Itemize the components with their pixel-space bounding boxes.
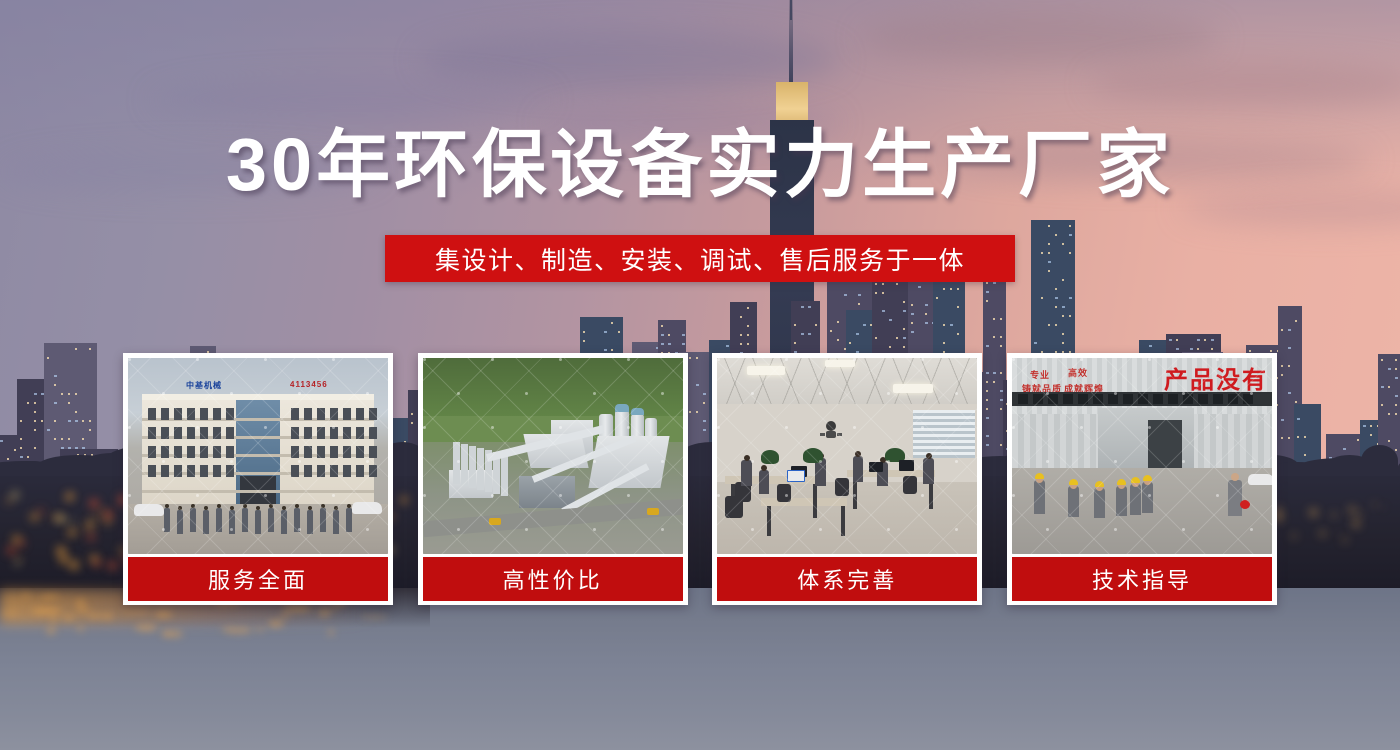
water-light-reflection bbox=[319, 612, 330, 616]
building-sign-text: 中基机械 bbox=[186, 380, 222, 391]
office-chair bbox=[835, 478, 849, 496]
building-window bbox=[369, 465, 377, 477]
company-headquarters-building-photo: 中基机械 4113456 bbox=[128, 358, 388, 554]
shore-light bbox=[60, 556, 67, 563]
building-window bbox=[330, 408, 338, 420]
shore-light bbox=[92, 516, 96, 520]
factory-worker bbox=[1094, 488, 1105, 518]
shore-light bbox=[109, 562, 116, 569]
factory-window bbox=[1138, 394, 1148, 404]
feature-card[interactable]: 中基机械 4113456 服务全面 bbox=[123, 353, 393, 605]
watermark-node bbox=[525, 460, 528, 463]
factory-sign-large-text: 产品没有 bbox=[1164, 360, 1268, 395]
watermark-node bbox=[128, 426, 131, 429]
parked-car bbox=[1248, 474, 1272, 485]
potted-plant bbox=[803, 448, 823, 463]
shore-light bbox=[39, 509, 44, 514]
factory-window bbox=[1228, 394, 1238, 404]
potted-plant bbox=[761, 450, 779, 464]
factory-worker bbox=[1068, 486, 1079, 517]
desk-leg bbox=[767, 506, 771, 536]
red-helmet-icon bbox=[1240, 500, 1250, 509]
staff-person bbox=[281, 510, 287, 534]
cloud bbox=[150, 78, 550, 122]
building-window bbox=[304, 427, 312, 439]
office-chair bbox=[903, 476, 917, 494]
staff-person bbox=[203, 510, 209, 534]
factory-window bbox=[1123, 394, 1133, 404]
feature-card-label-text: 服务全面 bbox=[208, 563, 308, 595]
stack-tower bbox=[477, 448, 484, 490]
building-window bbox=[200, 427, 208, 439]
building-window bbox=[369, 446, 377, 458]
building-window bbox=[213, 427, 221, 439]
building-window bbox=[174, 427, 182, 439]
building-window bbox=[343, 465, 351, 477]
feature-card-label: 体系完善 bbox=[717, 557, 977, 601]
building-phone-text: 4113456 bbox=[290, 380, 328, 389]
shore-light bbox=[1336, 532, 1338, 534]
office-worker bbox=[759, 470, 769, 494]
shore-light bbox=[1332, 513, 1336, 517]
building-window bbox=[369, 427, 377, 439]
building-window bbox=[200, 446, 208, 458]
shore-light bbox=[57, 547, 65, 555]
building-window bbox=[304, 446, 312, 458]
shore-light bbox=[70, 520, 73, 523]
cloud bbox=[1090, 62, 1400, 108]
feature-card-label: 高性价比 bbox=[423, 557, 683, 601]
shore-light bbox=[91, 555, 98, 562]
ceiling-light bbox=[825, 360, 855, 367]
tower-antenna bbox=[789, 0, 793, 85]
staff-person bbox=[229, 510, 235, 534]
silo-cap bbox=[631, 408, 644, 415]
office-worker bbox=[741, 460, 752, 486]
shore-light bbox=[7, 499, 11, 503]
shore-light bbox=[1382, 506, 1384, 508]
building-window bbox=[317, 446, 325, 458]
watermark-node bbox=[332, 358, 335, 361]
safety-helmet-icon bbox=[1069, 479, 1078, 485]
staff-person bbox=[294, 508, 300, 532]
shore-light bbox=[1343, 538, 1347, 542]
building-window bbox=[148, 408, 156, 420]
feature-card-list: 中基机械 4113456 服务全面 高性价比 bbox=[123, 353, 1277, 605]
building-window bbox=[291, 465, 299, 477]
factory-window bbox=[1183, 394, 1193, 404]
supervisor-head bbox=[1231, 473, 1239, 481]
parked-car bbox=[134, 504, 164, 516]
office-worker bbox=[853, 456, 863, 482]
computer-monitor bbox=[899, 460, 914, 471]
watermark-node bbox=[128, 494, 131, 497]
staff-person bbox=[268, 508, 274, 532]
factory-window bbox=[1018, 394, 1028, 404]
feature-card-label-text: 高性价比 bbox=[503, 563, 603, 595]
water-light-reflection bbox=[221, 628, 233, 631]
window-blinds bbox=[913, 410, 975, 458]
shore-light bbox=[1353, 520, 1360, 527]
shore-light bbox=[68, 532, 72, 536]
shore-light bbox=[31, 514, 37, 520]
shore-light bbox=[58, 516, 64, 522]
watermark-node bbox=[423, 494, 426, 497]
cloud bbox=[860, 12, 1220, 64]
excavator bbox=[647, 508, 659, 515]
shore-light bbox=[18, 557, 21, 560]
page-title: 30年环保设备实力生产厂家 bbox=[0, 126, 1400, 204]
shore-light bbox=[86, 522, 93, 529]
supervisor bbox=[1228, 480, 1242, 516]
feature-card-label: 技术指导 bbox=[1012, 557, 1272, 601]
safety-helmet-icon bbox=[1143, 475, 1152, 481]
cloud bbox=[420, 30, 840, 90]
shore-light bbox=[70, 561, 78, 569]
building-window bbox=[317, 465, 325, 477]
factory-side-door bbox=[1148, 420, 1182, 468]
staff-person bbox=[333, 510, 339, 534]
factory-window bbox=[1048, 394, 1058, 404]
building-window bbox=[356, 446, 364, 458]
building-window bbox=[291, 446, 299, 458]
stack-tower bbox=[469, 446, 476, 488]
building-window bbox=[161, 446, 169, 458]
building-window bbox=[213, 408, 221, 420]
water-light-reflection bbox=[46, 595, 59, 598]
building-window bbox=[187, 465, 195, 477]
shore-light bbox=[19, 541, 24, 546]
factory-window bbox=[1168, 394, 1178, 404]
subtitle-bar: 集设计、制造、安装、调试、售后服务于一体 bbox=[385, 235, 1015, 282]
building-window bbox=[174, 408, 182, 420]
shore-light bbox=[100, 510, 104, 514]
factory-window bbox=[1078, 394, 1088, 404]
water-light-reflection bbox=[32, 608, 62, 613]
safety-helmet-icon bbox=[1095, 481, 1104, 487]
building-window bbox=[356, 408, 364, 420]
shore-light bbox=[105, 511, 112, 518]
building-window bbox=[356, 465, 364, 477]
factory-worker bbox=[1142, 482, 1153, 513]
watermark-node bbox=[593, 528, 596, 531]
water-light-reflection bbox=[102, 614, 114, 619]
water-light-reflection bbox=[23, 593, 29, 597]
shore-light bbox=[105, 518, 110, 523]
feature-card[interactable]: 高性价比 bbox=[418, 353, 688, 605]
feature-card[interactable]: 产品没有 专业 高效 铸就品质 成就辉煌 技术指导 bbox=[1007, 353, 1277, 605]
shore-light bbox=[1310, 509, 1317, 516]
building-window bbox=[317, 427, 325, 439]
shore-light bbox=[70, 529, 75, 534]
factory-sign-small-text-2: 高效 bbox=[1068, 366, 1088, 379]
safety-helmet-icon bbox=[1131, 477, 1140, 483]
factory-window bbox=[1033, 394, 1043, 404]
water-light-reflection bbox=[78, 626, 83, 632]
building-window bbox=[148, 427, 156, 439]
factory-sign-small-text-1: 专业 bbox=[1030, 368, 1050, 381]
ceiling-light bbox=[747, 366, 785, 375]
shore-light bbox=[1349, 507, 1355, 513]
computer-monitor bbox=[869, 462, 883, 472]
factory-window bbox=[1243, 394, 1253, 404]
parked-car bbox=[352, 502, 382, 514]
staff-person bbox=[255, 510, 261, 534]
building-window bbox=[200, 465, 208, 477]
office-chair bbox=[725, 496, 743, 518]
shore-light bbox=[1292, 534, 1297, 539]
shore-light bbox=[1320, 531, 1325, 536]
shore-light bbox=[90, 500, 98, 508]
building-window bbox=[356, 427, 364, 439]
building-window bbox=[330, 427, 338, 439]
shore-light bbox=[12, 492, 18, 498]
desk-leg bbox=[813, 484, 817, 518]
watermark-node bbox=[264, 358, 267, 361]
excavator bbox=[489, 518, 501, 525]
stack-tower bbox=[461, 444, 468, 486]
building-window bbox=[226, 446, 234, 458]
building-window bbox=[304, 408, 312, 420]
shore-light bbox=[88, 534, 94, 540]
factory-worker bbox=[1116, 486, 1127, 516]
stack-tower bbox=[453, 442, 460, 484]
building-window bbox=[330, 465, 338, 477]
staff-person bbox=[164, 508, 170, 532]
building-window bbox=[200, 408, 208, 420]
office-chair bbox=[777, 484, 791, 502]
factory-window bbox=[1093, 394, 1103, 404]
building-window bbox=[330, 446, 338, 458]
building-window bbox=[187, 427, 195, 439]
building-window bbox=[226, 408, 234, 420]
silo-cap bbox=[615, 404, 629, 412]
watermark-node bbox=[128, 358, 131, 361]
factory-workers-briefing-photo: 产品没有 专业 高效 铸就品质 成就辉煌 bbox=[1012, 358, 1272, 554]
water-light-reflection bbox=[268, 621, 284, 627]
shore-light bbox=[66, 495, 71, 500]
building-window bbox=[343, 446, 351, 458]
desk-leg bbox=[841, 506, 845, 536]
factory-window bbox=[1153, 394, 1163, 404]
water-light-reflection bbox=[255, 628, 265, 631]
staff-person bbox=[320, 508, 326, 532]
ceiling-light bbox=[893, 384, 933, 393]
water-light-reflection bbox=[280, 614, 289, 617]
shore-light bbox=[1358, 512, 1361, 515]
factory-window bbox=[1198, 394, 1208, 404]
factory-worker bbox=[1034, 480, 1045, 514]
safety-helmet-icon bbox=[1035, 473, 1044, 479]
feature-card[interactable]: 体系完善 bbox=[712, 353, 982, 605]
safety-helmet-icon bbox=[1117, 479, 1126, 485]
shore-light bbox=[1373, 503, 1377, 507]
building-window bbox=[343, 427, 351, 439]
subtitle-text: 集设计、制造、安装、调试、售后服务于一体 bbox=[435, 241, 965, 277]
shore-light bbox=[15, 561, 19, 565]
staff-person bbox=[190, 508, 196, 532]
plant-shed bbox=[519, 476, 575, 508]
tree-cluster bbox=[1361, 445, 1398, 476]
wall-decal bbox=[817, 414, 845, 442]
office-worker bbox=[923, 458, 934, 484]
watermark-node bbox=[196, 358, 199, 361]
factory-worker bbox=[1130, 484, 1141, 515]
building-window bbox=[304, 465, 312, 477]
promo-banner: 30年环保设备实力生产厂家 集设计、制造、安装、调试、售后服务于一体 中基机械 … bbox=[0, 0, 1400, 750]
building-window bbox=[343, 408, 351, 420]
staff-person bbox=[307, 510, 313, 534]
building-window bbox=[174, 465, 182, 477]
feature-card-label-text: 技术指导 bbox=[1092, 563, 1192, 595]
watermark-node bbox=[627, 494, 630, 497]
water-light-reflection bbox=[328, 630, 334, 634]
aerial-industrial-plant-photo bbox=[423, 358, 683, 554]
building-window bbox=[317, 408, 325, 420]
water-light-reflection bbox=[155, 612, 172, 617]
shore-light bbox=[8, 547, 14, 553]
factory-window bbox=[1213, 394, 1223, 404]
building-window bbox=[187, 408, 195, 420]
factory-window bbox=[1063, 394, 1073, 404]
staff-person bbox=[216, 508, 222, 532]
building-window bbox=[174, 446, 182, 458]
building-window bbox=[213, 465, 221, 477]
feature-card-label: 服务全面 bbox=[128, 557, 388, 601]
building-window bbox=[161, 427, 169, 439]
building-window bbox=[161, 465, 169, 477]
building-window bbox=[369, 408, 377, 420]
building-window bbox=[148, 446, 156, 458]
building-window bbox=[213, 446, 221, 458]
building-window bbox=[161, 408, 169, 420]
building-window bbox=[226, 465, 234, 477]
building-window bbox=[148, 465, 156, 477]
water-light-reflection bbox=[46, 628, 56, 634]
building-floor-line bbox=[142, 490, 374, 493]
open-laptop bbox=[787, 470, 805, 482]
building-window bbox=[187, 446, 195, 458]
stack-tower bbox=[501, 454, 508, 496]
building-window bbox=[226, 427, 234, 439]
building-window bbox=[291, 408, 299, 420]
watermark-node bbox=[661, 528, 664, 531]
factory-window bbox=[1108, 394, 1118, 404]
desk-surface bbox=[761, 498, 847, 506]
feature-card-label-text: 体系完善 bbox=[797, 563, 897, 595]
office-interior-staff-photo bbox=[717, 358, 977, 554]
staff-person bbox=[242, 508, 248, 532]
building-window bbox=[291, 427, 299, 439]
staff-person bbox=[177, 510, 183, 534]
